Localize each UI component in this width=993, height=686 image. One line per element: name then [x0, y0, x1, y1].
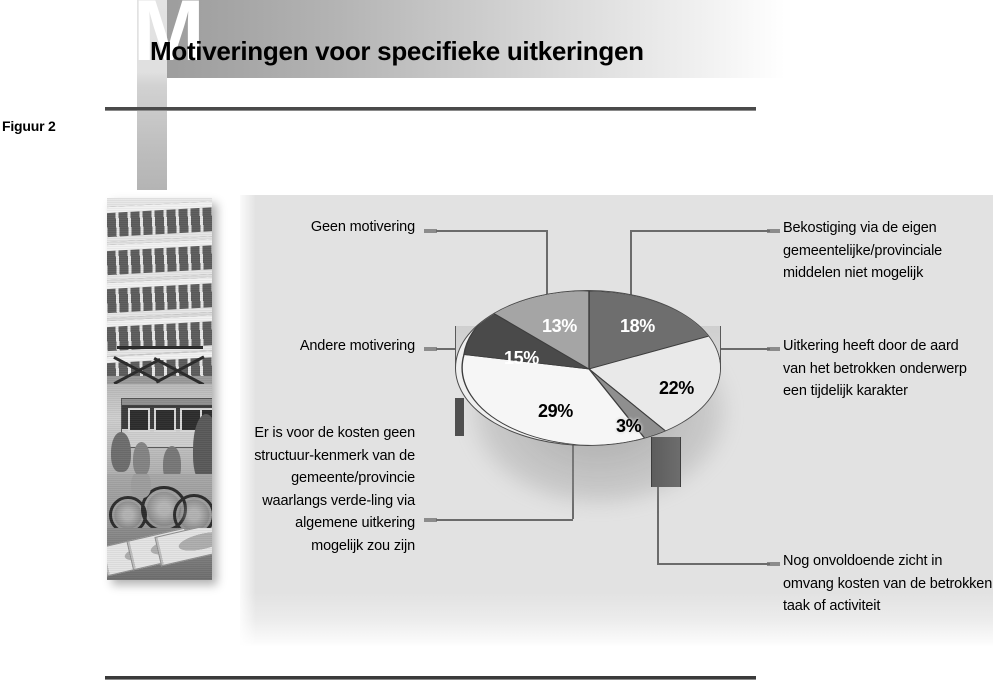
rule-top — [105, 107, 756, 111]
leader-h-bottom-right — [657, 563, 770, 565]
page-title: Motiveringen voor specifieke uitkeringen — [150, 36, 644, 67]
callout-label-top-left: Geen motivering — [260, 216, 415, 239]
pie-label-15: 15% — [504, 348, 539, 369]
pie-chart: 18% 22% 3% 29% 15% 13% — [455, 290, 723, 518]
pie-slices-svg — [456, 291, 721, 446]
figure-caption: Figuur 2 — [2, 118, 56, 134]
photo-euro-banknotes — [107, 528, 212, 580]
callout-label-bottom-right: Nog onvoldoende zicht in omvang kosten v… — [783, 550, 993, 618]
leader-h-bottom-left — [436, 519, 573, 521]
rule-bottom — [105, 676, 756, 680]
pie-top-face — [455, 290, 721, 446]
pie-label-29: 29% — [538, 401, 573, 422]
callout-label-mid-left: Andere motivering — [250, 335, 415, 358]
pie-label-13: 13% — [542, 316, 577, 337]
pie-label-3: 3% — [616, 416, 641, 437]
pie-label-18: 18% — [620, 316, 655, 337]
callout-label-top-right: Bekostiging via de eigen gemeentelijke/p… — [783, 217, 988, 285]
leader-h-top-right — [630, 230, 770, 232]
callout-label-bottom-left: Er is voor de kosten geen structuur-kenm… — [250, 422, 415, 558]
photo-collage — [107, 198, 212, 580]
panel-left-fade — [240, 195, 256, 647]
pie-label-22: 22% — [659, 378, 694, 399]
chart-panel: Bekostiging via de eigen gemeentelijke/p… — [240, 195, 993, 647]
leader-h-top-left — [436, 230, 548, 232]
callout-label-mid-right: Uitkering heeft door de aard van het bet… — [783, 335, 983, 403]
